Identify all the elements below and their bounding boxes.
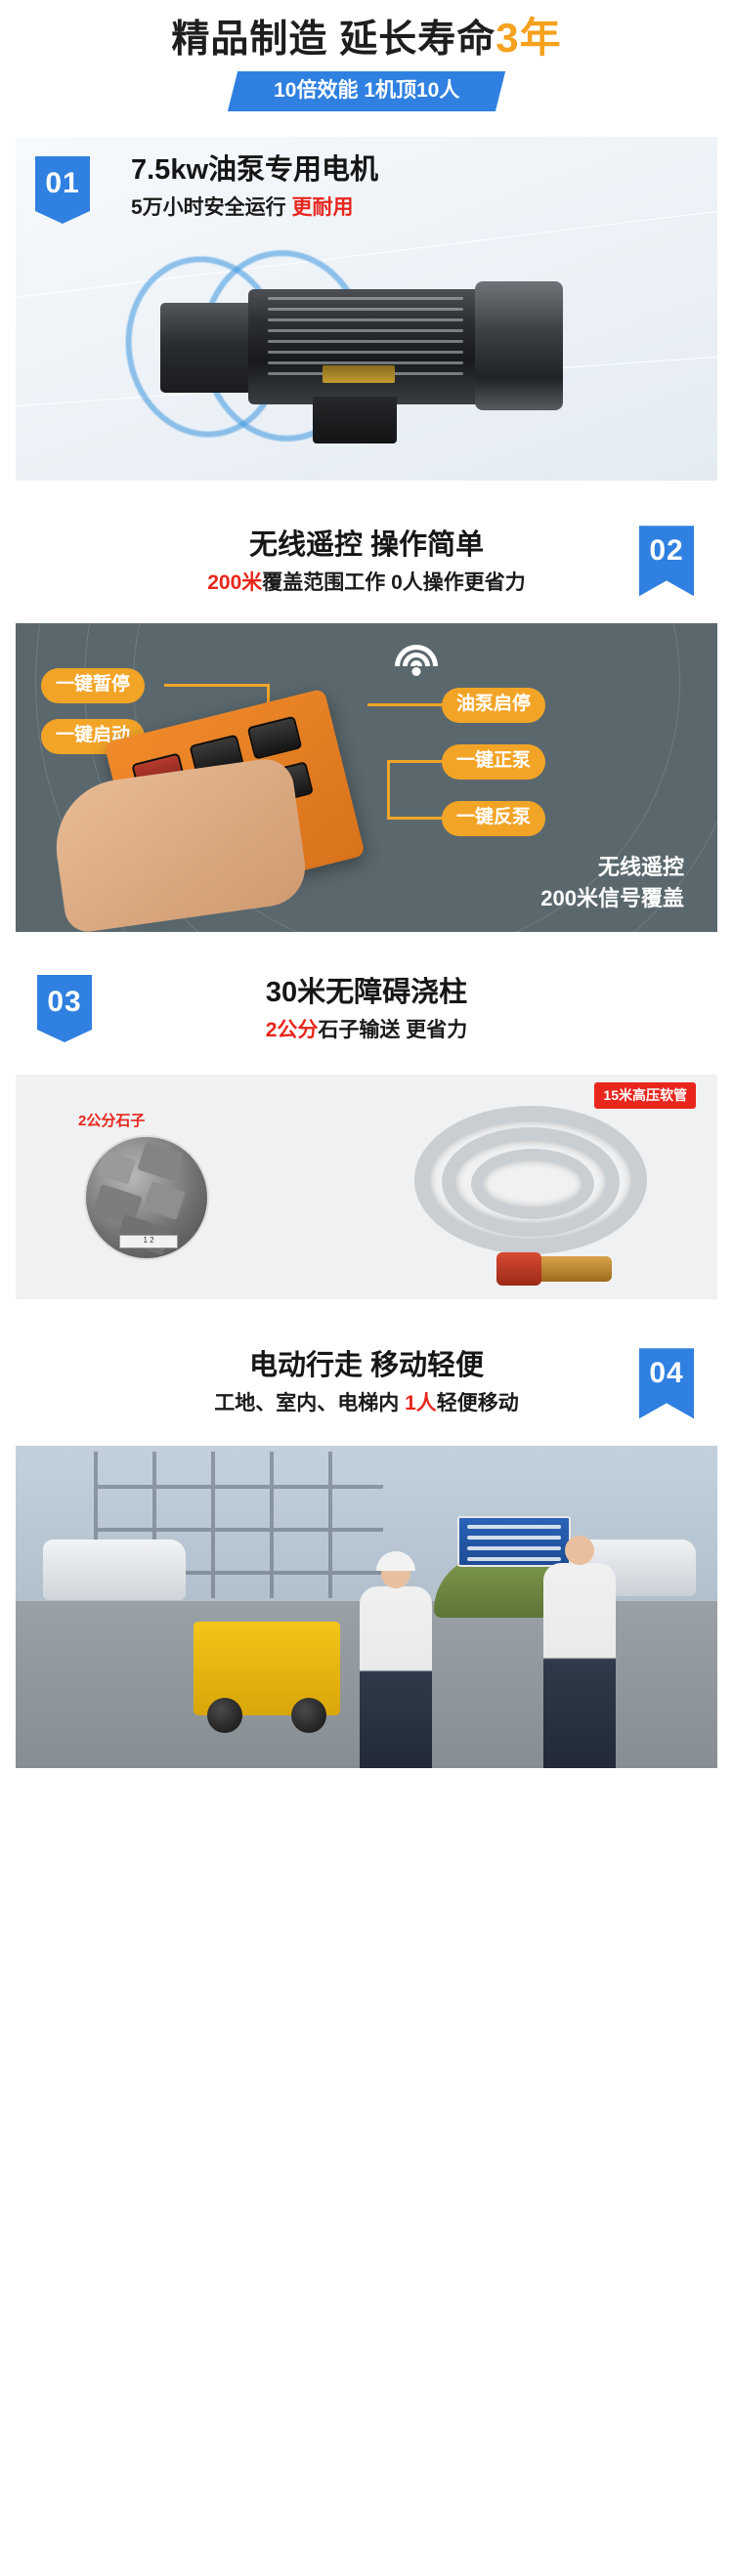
motor-nameplate: [323, 365, 395, 383]
motor-end-cap: [475, 281, 563, 410]
callout-pause: 一键暂停: [41, 668, 145, 703]
section-mobility-subtitle: 工地、室内、电梯内 1人轻便移动: [16, 1390, 717, 1416]
section-mobility-subtitle-red: 1人: [405, 1392, 437, 1415]
motor-mounting-foot: [313, 397, 397, 443]
section-motor-subtitle-plain: 5万小时安全运行: [131, 196, 292, 219]
hose-red-coupler: [496, 1252, 541, 1286]
motor-illustration: [131, 248, 590, 453]
section-badge-02: 02: [639, 526, 694, 596]
bystander-head: [565, 1536, 594, 1565]
section-hose-subtitle-red: 2公分: [266, 1019, 319, 1041]
hose-coil-inner: [471, 1149, 594, 1219]
section-mobility-title: 电动行走 移动轻便: [16, 1348, 717, 1383]
section-hose-text: 30米无障碍浇柱 2公分石子输送 更省力: [16, 975, 717, 1043]
section-remote-subtitle: 200米覆盖范围工作 0人操作更省力: [16, 570, 717, 596]
leader-line-pump-toggle: [367, 703, 444, 706]
section-hose-subtitle: 2公分石子输送 更省力: [16, 1017, 717, 1043]
label-gravel: 2公分石子: [78, 1110, 145, 1130]
section-badge-04: 04: [639, 1348, 694, 1418]
section-mobility: 电动行走 移动轻便 工地、室内、电梯内 1人轻便移动 04: [0, 1348, 733, 1768]
page-title-accent: 3年: [496, 15, 561, 61]
hose-photo: [381, 1100, 692, 1278]
site-info-board: [457, 1516, 571, 1567]
section-mobility-subtitle-plain-b: 轻便移动: [437, 1392, 519, 1415]
section-motor-subtitle: 5万小时安全运行 更耐用: [131, 194, 378, 221]
section-badge-01: 01: [35, 156, 90, 211]
section-motor-text: 7.5kw油泵专用电机 5万小时安全运行 更耐用: [131, 152, 378, 221]
worker-operator: [360, 1586, 432, 1768]
header-banner-label: 10倍效能 1机顶10人: [274, 78, 459, 104]
gravel-ruler: 1 2: [119, 1235, 178, 1248]
section-remote: 无线遥控 操作简单 200米覆盖范围工作 0人操作更省力 02 一键暂停 一键启…: [0, 526, 733, 932]
worker-bystander: [543, 1563, 616, 1768]
gravel-photo: 1 2: [84, 1135, 209, 1260]
leader-line-pause: [164, 684, 270, 687]
remote-key-forward: [247, 716, 303, 760]
machine-wheel-left: [207, 1698, 242, 1733]
section-remote-subtitle-plain: 覆盖范围工作 0人操作更省力: [262, 571, 526, 594]
callout-forward-pump: 一键正泵: [442, 744, 545, 780]
section-remote-caption-line1: 无线遥控: [540, 852, 684, 883]
section-motor-panel: 01 7.5kw油泵专用电机 5万小时安全运行 更耐用: [16, 137, 717, 481]
section-remote-subtitle-red: 200米: [207, 571, 262, 594]
page-title: 精品制造 延长寿命3年: [0, 14, 733, 63]
section-remote-title: 无线遥控 操作简单: [16, 528, 717, 563]
section-remote-text: 无线遥控 操作简单 200米覆盖范围工作 0人操作更省力: [16, 526, 717, 596]
section-motor-title: 7.5kw油泵专用电机: [131, 152, 378, 188]
section-remote-caption: 无线遥控 200米信号覆盖: [540, 852, 684, 914]
section-hose-header: 03 30米无障碍浇柱 2公分石子输送 更省力: [16, 975, 717, 1059]
oil-pump-block: [160, 303, 262, 393]
header-banner: 10倍效能 1机顶10人: [228, 71, 506, 111]
parked-van-left: [43, 1540, 186, 1600]
section-mobility-subtitle-plain-a: 工地、室内、电梯内: [214, 1392, 405, 1415]
page-title-main: 精品制造 延长寿命: [171, 19, 496, 61]
leader-line-reverse: [387, 817, 444, 820]
callout-pump-toggle: 油泵启停: [442, 688, 545, 723]
gravel-stone-2: [137, 1142, 183, 1182]
section-badge-01-wrap: 01: [35, 156, 90, 211]
section-remote-header: 无线遥控 操作简单 200米覆盖范围工作 0人操作更省力 02: [16, 526, 717, 610]
section-mobility-text: 电动行走 移动轻便 工地、室内、电梯内 1人轻便移动: [16, 1348, 717, 1416]
section-badge-03-wrap: 03: [37, 975, 92, 1030]
section-badge-02-wrap: 02: [639, 526, 694, 596]
section-mobility-header: 电动行走 移动轻便 工地、室内、电梯内 1人轻便移动 04: [16, 1348, 717, 1432]
wifi-signal-icon: [387, 633, 446, 678]
header-banner-wrap: 10倍效能 1机顶10人: [0, 71, 733, 111]
section-motor: 01 7.5kw油泵专用电机 5万小时安全运行 更耐用: [0, 137, 733, 481]
gravel-stone-1: [97, 1151, 136, 1185]
leader-line-forward-v: [387, 760, 390, 817]
page-header: 精品制造 延长寿命3年 10倍效能 1机顶10人: [0, 0, 733, 111]
section-mobility-panel: [16, 1446, 717, 1768]
section-hose-panel: 2公分石子 1 2 15米高压软管: [16, 1075, 717, 1299]
motor-image: [16, 221, 717, 481]
section-remote-panel: 一键暂停 一键启动 油泵启停 一键正泵 一键反泵 无线遥控 200米信号覆盖: [16, 623, 717, 932]
gravel-stone-4: [143, 1181, 186, 1220]
section-hose: 03 30米无障碍浇柱 2公分石子输送 更省力 2公分石子 1 2 15米高压软…: [0, 975, 733, 1299]
callout-reverse-pump: 一键反泵: [442, 801, 545, 836]
section-badge-04-wrap: 04: [639, 1348, 694, 1418]
concrete-pump-machine: [194, 1622, 340, 1715]
machine-wheel-right: [291, 1698, 326, 1733]
section-motor-subtitle-red: 更耐用: [292, 196, 354, 219]
section-hose-subtitle-plain: 石子输送 更省力: [318, 1019, 467, 1041]
section-badge-03: 03: [37, 975, 92, 1030]
section-hose-title: 30米无障碍浇柱: [16, 975, 717, 1010]
section-remote-caption-line2: 200米信号覆盖: [540, 883, 684, 914]
leader-line-forward: [387, 760, 444, 763]
